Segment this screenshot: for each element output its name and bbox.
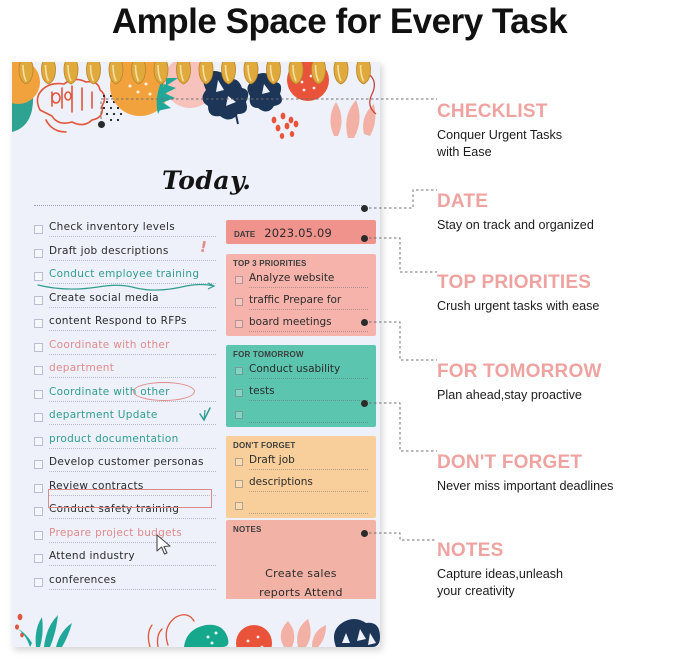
connector-dot-checklist xyxy=(98,121,105,128)
connector-dot-forget xyxy=(361,400,368,407)
connector-dot-priorities xyxy=(361,235,368,242)
connector-dot-tomorrow xyxy=(361,319,368,326)
connector-dot-notes xyxy=(361,530,368,537)
connector-dot-date xyxy=(361,205,368,212)
connector-lines xyxy=(0,0,679,660)
mouse-cursor-icon xyxy=(156,534,172,561)
